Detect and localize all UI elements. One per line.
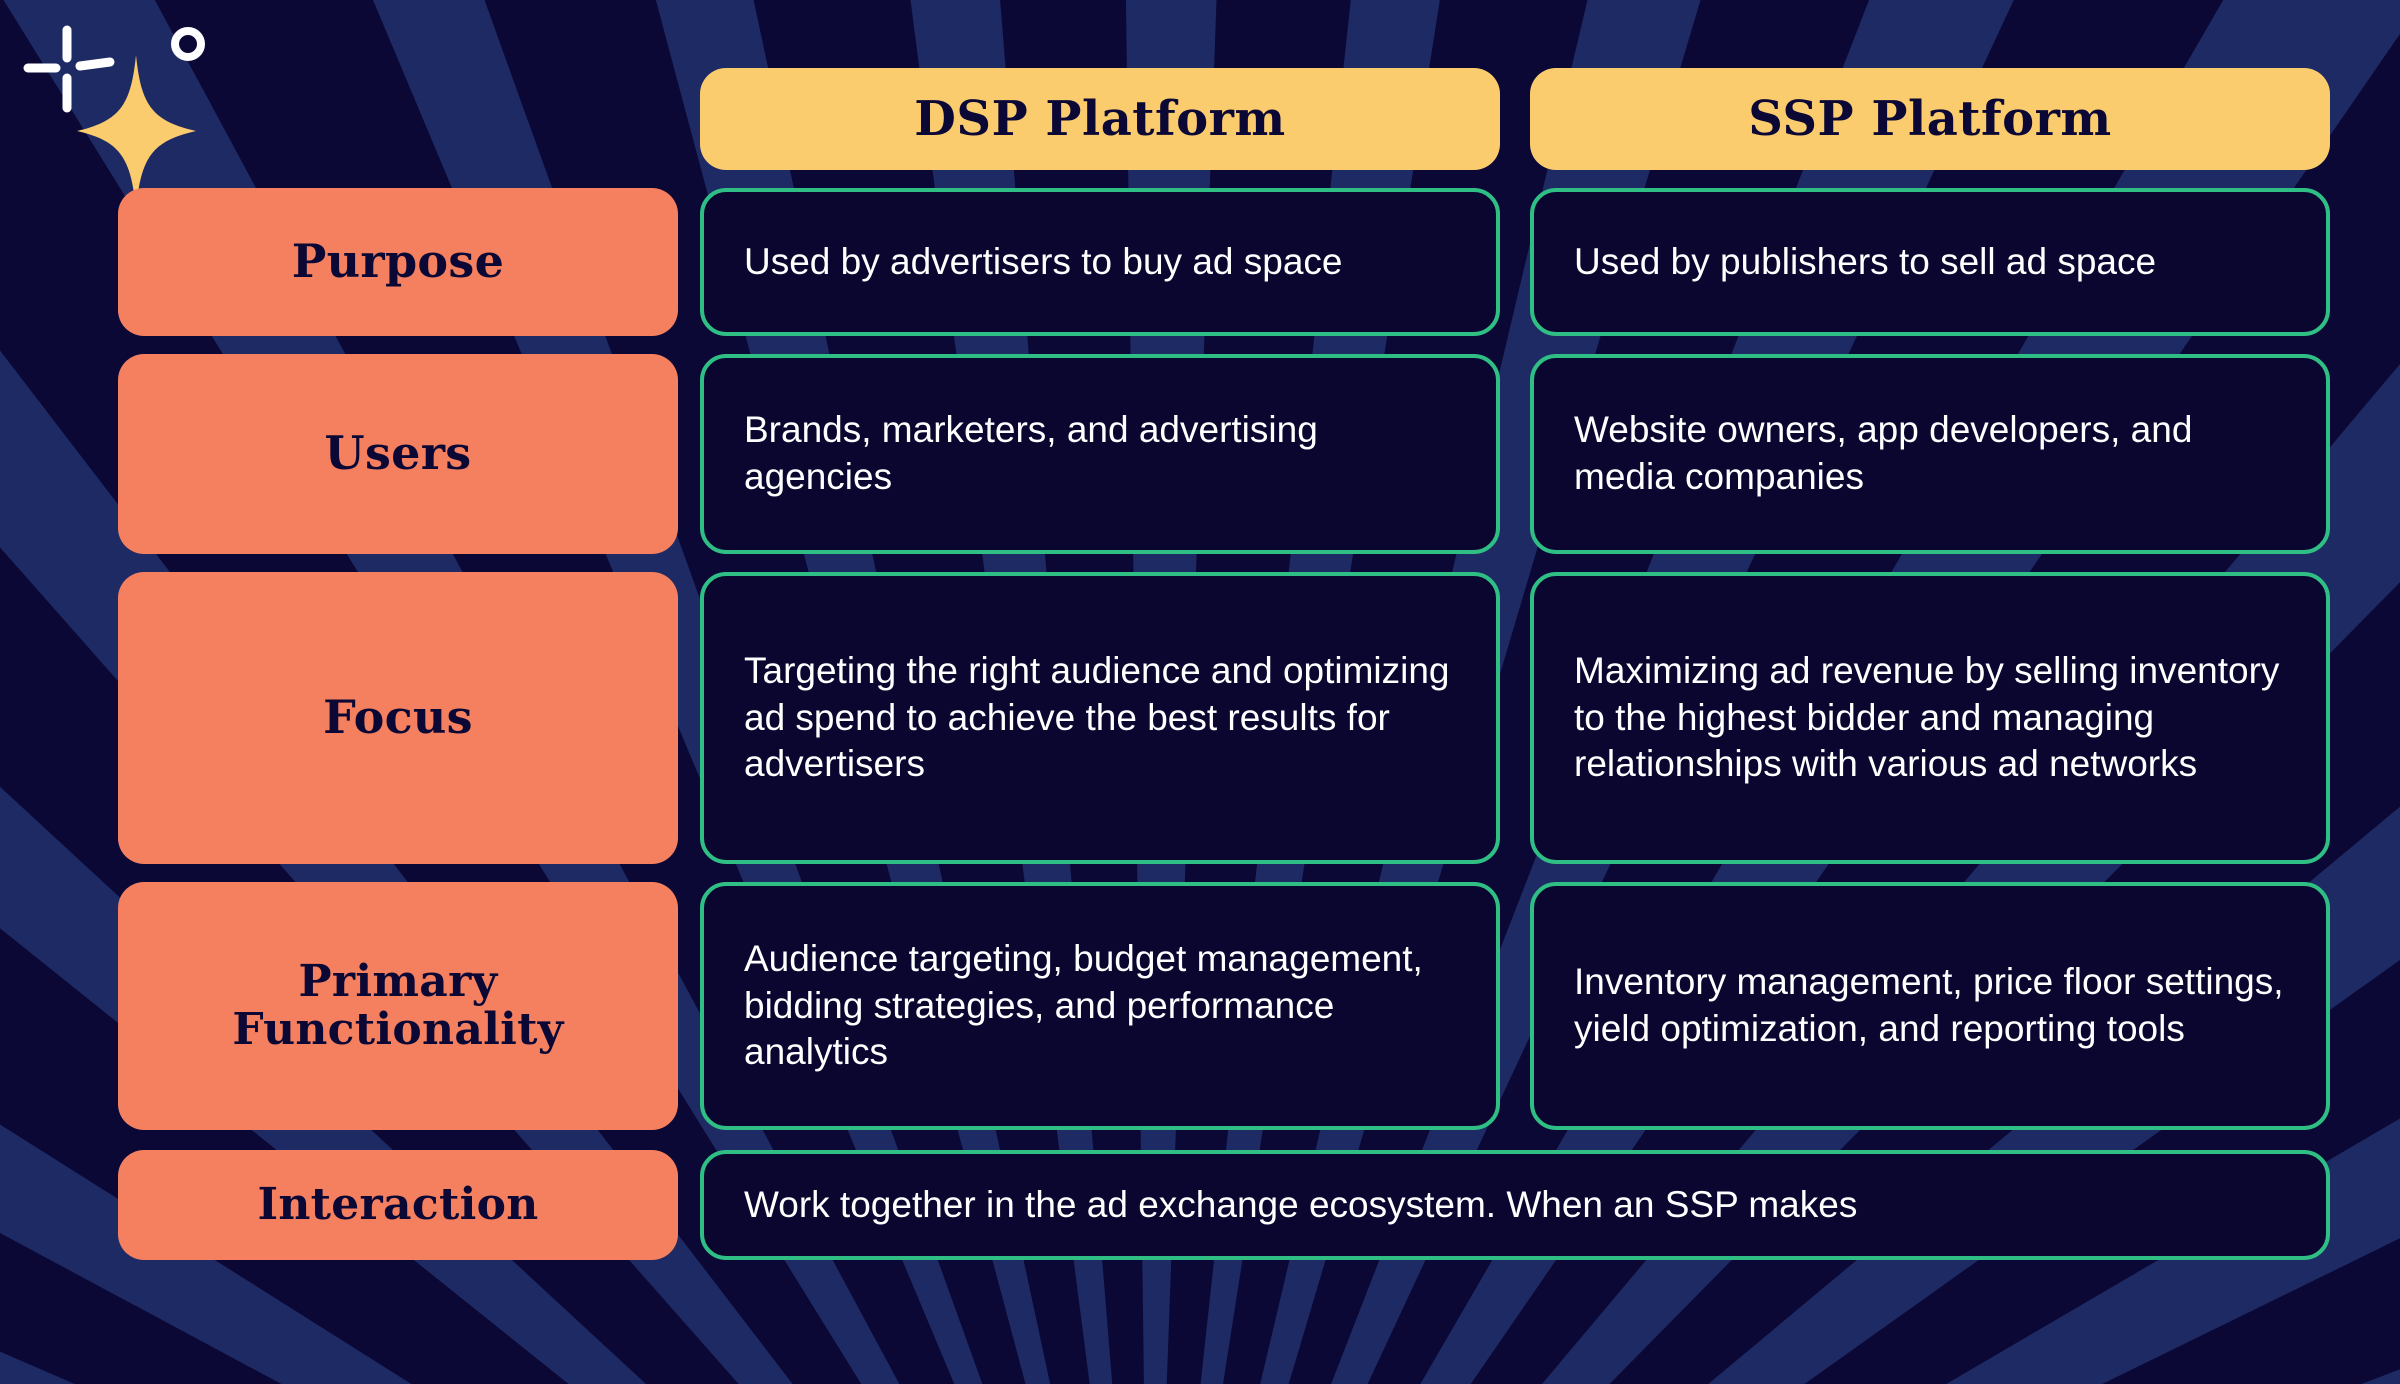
cell-purpose-dsp: Used by advertisers to buy ad space bbox=[700, 188, 1500, 336]
row-label-interaction: Interaction bbox=[118, 1150, 678, 1260]
cell-primary-functionality-dsp: Audience targeting, budget management, b… bbox=[700, 882, 1500, 1130]
cell-users-dsp: Brands, marketers, and advertising agenc… bbox=[700, 354, 1500, 554]
cell-interaction-combined: Work together in the ad exchange ecosyst… bbox=[700, 1150, 2330, 1260]
cell-primary-functionality-ssp: Inventory management, price floor settin… bbox=[1530, 882, 2330, 1130]
column-header-ssp: SSP Platform bbox=[1530, 68, 2330, 170]
cell-purpose-ssp: Used by publishers to sell ad space bbox=[1530, 188, 2330, 336]
cell-focus-ssp: Maximizing ad revenue by selling invento… bbox=[1530, 572, 2330, 864]
row-label-purpose: Purpose bbox=[118, 188, 678, 336]
cell-users-ssp: Website owners, app developers, and medi… bbox=[1530, 354, 2330, 554]
column-header-dsp: DSP Platform bbox=[700, 68, 1500, 170]
row-label-primary-functionality: Primary Functionality bbox=[118, 882, 678, 1130]
slide-canvas: DSP Platform SSP Platform Purpose Used b… bbox=[0, 0, 2400, 1384]
row-label-users: Users bbox=[118, 354, 678, 554]
comparison-table: DSP Platform SSP Platform Purpose Used b… bbox=[0, 0, 2400, 1384]
row-label-focus: Focus bbox=[118, 572, 678, 864]
cell-focus-dsp: Targeting the right audience and optimiz… bbox=[700, 572, 1500, 864]
